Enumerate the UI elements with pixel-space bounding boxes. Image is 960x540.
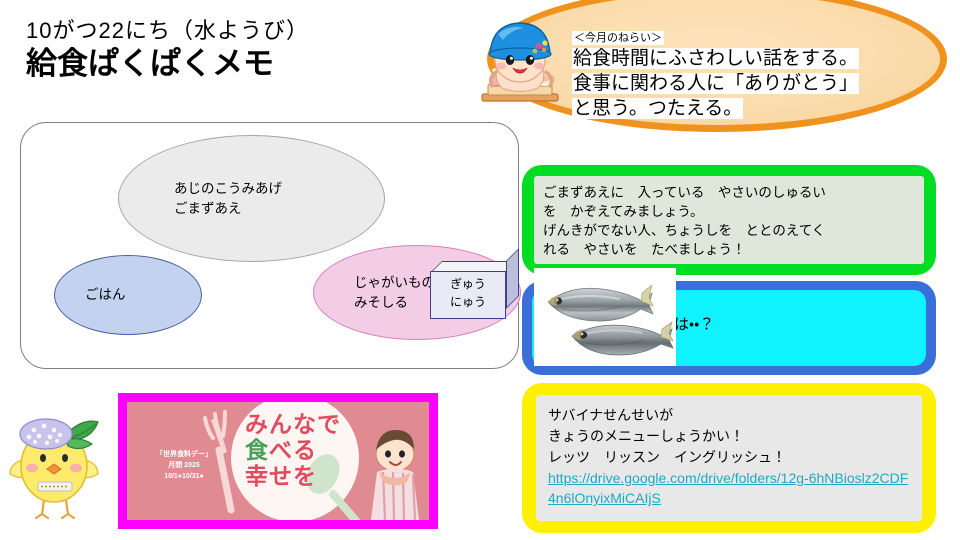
milk-carton-label: ぎゅう にゅう [430,275,506,311]
tray-item-rice: ごはん [54,255,202,335]
tray-item-rice-label: ごはん [85,285,126,305]
world-food-day-poster: 「世界食料デー」 月間 2025 10/1●10/31● みんなで 食べる 幸せ… [118,393,438,529]
tray-item-soup-label: じゃがいもの みそしる [354,273,435,312]
poster-headline-line2: 食べる [245,438,395,464]
fish-photo [534,268,676,366]
page-title-block: 10がつ22にち（水ようび） 給食ぱくぱくメモ [26,18,456,82]
poster-subtext: 「世界食料デー」 月間 2025 10/1●10/31● [138,450,230,483]
monthly-aim-text-block: ＜今月のねらい＞ 給食時間にふさわしい話をする。 食事に関わる人に「ありがとう」… [572,28,920,121]
chick-mascot-icon [4,408,104,520]
poster-headline-line3: 幸せを [245,464,395,490]
menu-drive-link[interactable]: https://drive.google.com/drive/folders/1… [548,468,910,509]
tray-item-main-dish-label: あじのこうみあげ ごまずあえ [174,179,282,218]
milk-carton-icon: ぎゅう にゅう [430,261,508,319]
yellow-announcement-text: サバイナせんせいが きょうのメニューしょうかい！ レッツ リッスン イングリッシ… [548,405,910,468]
poster-headline-line1: みんなで [245,412,395,438]
poster-headline-line2-rest: べる [269,437,317,463]
green-message-box: ごまずあえに 入っている やさいのしゅるい を かぞえてみましょう。 げんきがで… [522,165,936,275]
tray-item-main-dish: あじのこうみあげ ごまずあえ [118,135,385,262]
poster-headline: みんなで 食べる 幸せを [245,412,395,489]
poster-inner: 「世界食料デー」 月間 2025 10/1●10/31● みんなで 食べる 幸せ… [127,402,429,520]
chef-kid-mascot-icon [468,12,572,116]
yellow-announcement-box: サバイナせんせいが きょうのメニューしょうかい！ レッツ リッスン イングリッシ… [522,383,936,533]
poster-headline-kanji: 食 [245,437,269,463]
green-message-inner: ごまずあえに 入っている やさいのしゅるい を かぞえてみましょう。 げんきがで… [534,176,924,264]
page-title: 給食ぱくぱくメモ [26,45,456,82]
lunch-date: 10がつ22にち（水ようび） [26,18,456,43]
yellow-announcement-inner: サバイナせんせいが きょうのメニューしょうかい！ レッツ リッスン イングリッシ… [536,395,922,521]
monthly-aim-text: 給食時間にふさわしい話をする。 食事に関わる人に「ありがとう」 と思う。つたえる… [572,46,920,121]
monthly-aim-text-inner: 給食時間にふさわしい話をする。 食事に関わる人に「ありがとう」 と思う。つたえる… [572,48,859,119]
slide-canvas: 10がつ22にち（水ようび） 給食ぱくぱくメモ あじのこうみあげ ごまずあえ ご… [0,0,960,540]
lunch-tray: あじのこうみあげ ごまずあえ ごはん じゃがいもの みそしる ぎゅう にゅう [20,122,519,369]
green-message-text: ごまずあえに 入っている やさいのしゅるい を かぞえてみましょう。 げんきがで… [543,183,915,260]
monthly-aim-label: ＜今月のねらい＞ [572,31,664,45]
